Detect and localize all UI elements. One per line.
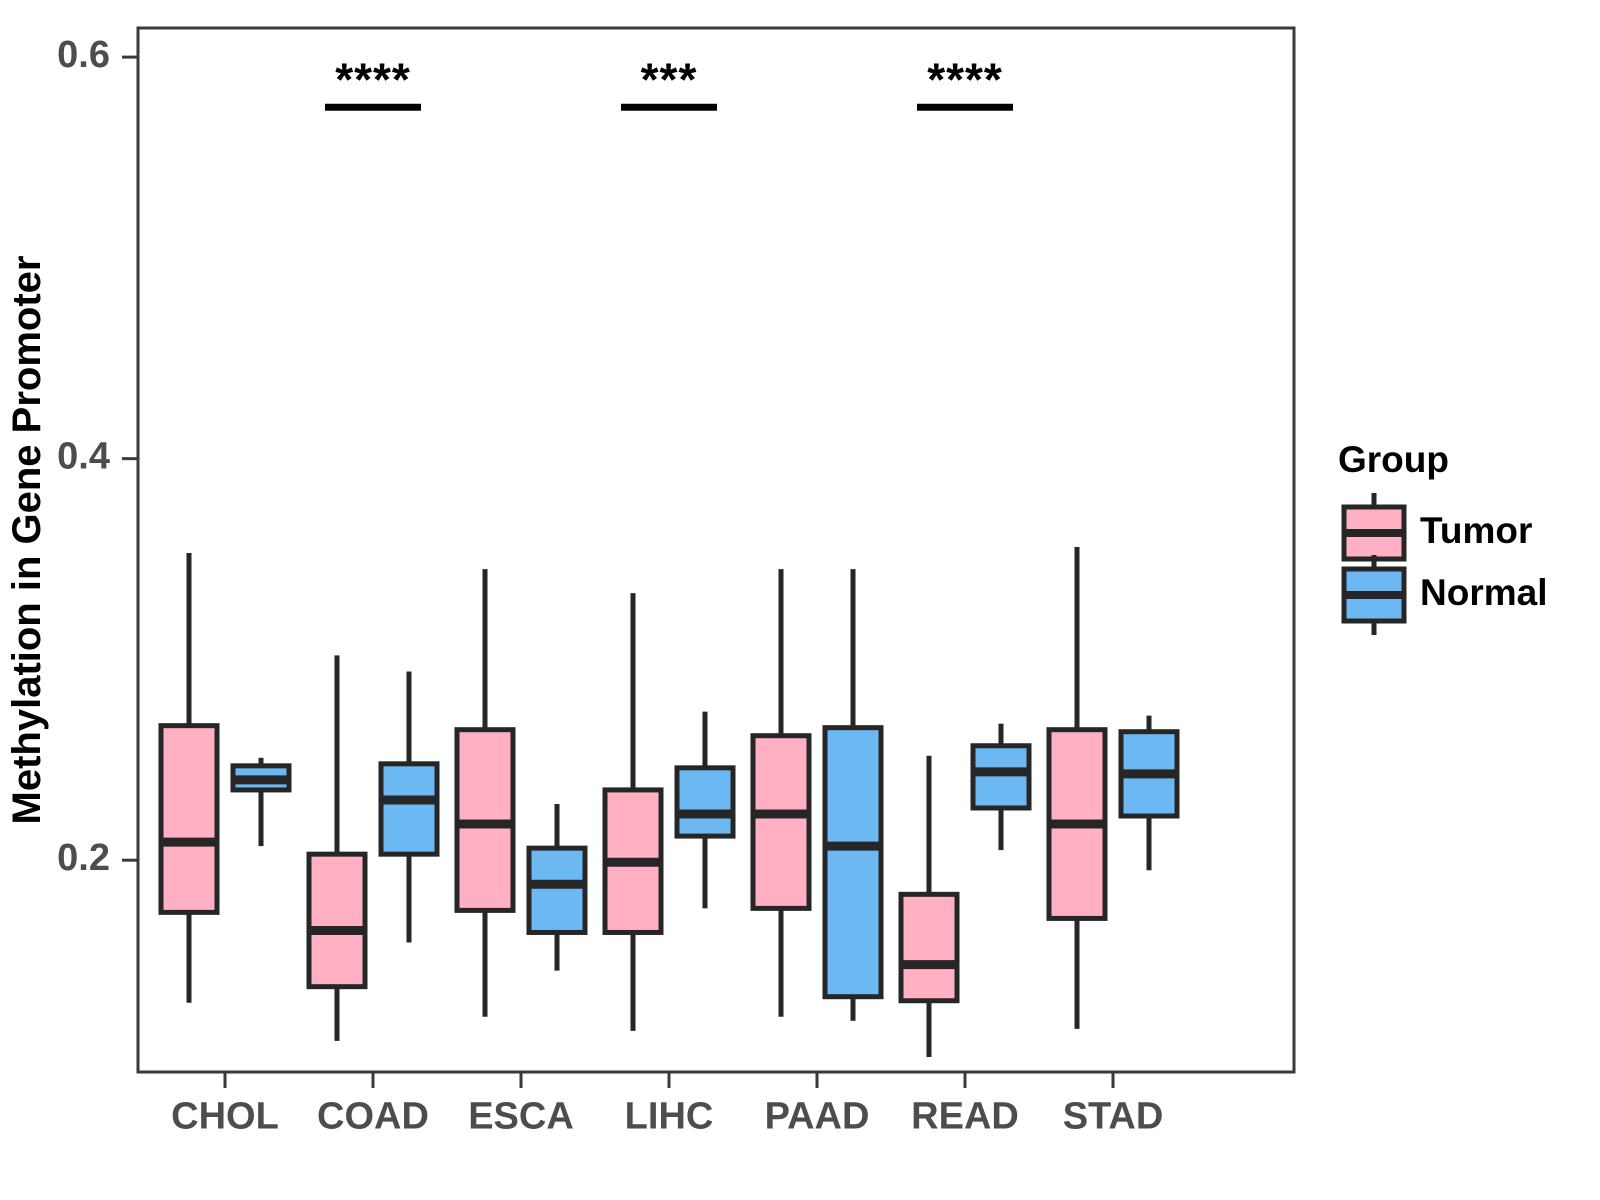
box-body[interactable] [529, 848, 585, 932]
y-tick-label: 0.2 [57, 837, 110, 879]
significance-label-coad: **** [335, 53, 411, 105]
x-tick-label-lihc: LIHC [625, 1095, 714, 1137]
x-tick-label-read: READ [911, 1095, 1019, 1137]
legend-label-tumor: Tumor [1420, 510, 1532, 551]
box-body[interactable] [901, 894, 957, 1000]
legend-title: Group [1338, 439, 1449, 480]
box-body[interactable] [973, 746, 1029, 808]
box-body[interactable] [825, 728, 881, 997]
x-tick-label-coad: COAD [317, 1095, 429, 1137]
y-tick-label: 0.4 [57, 436, 110, 478]
x-tick-label-paad: PAAD [765, 1095, 870, 1137]
x-tick-label-esca: ESCA [468, 1095, 574, 1137]
box-body[interactable] [753, 736, 809, 909]
significance-label-read: **** [927, 53, 1003, 105]
significance-label-lihc: *** [641, 53, 698, 105]
x-tick-label-stad: STAD [1063, 1095, 1164, 1137]
box-body[interactable] [309, 854, 365, 987]
boxplot-chart: Methylation in Gene Promoter 0.60.40.2 C… [0, 0, 1600, 1200]
box-body[interactable] [677, 768, 733, 836]
legend-label-normal: Normal [1420, 572, 1547, 613]
y-axis-title: Methylation in Gene Promoter [5, 256, 49, 825]
x-tick-label-chol: CHOL [171, 1095, 279, 1137]
box-body[interactable] [161, 726, 217, 913]
box-body[interactable] [381, 764, 437, 854]
figure-root: Methylation in Gene Promoter 0.60.40.2 C… [0, 0, 1600, 1200]
y-tick-label: 0.6 [57, 34, 110, 76]
